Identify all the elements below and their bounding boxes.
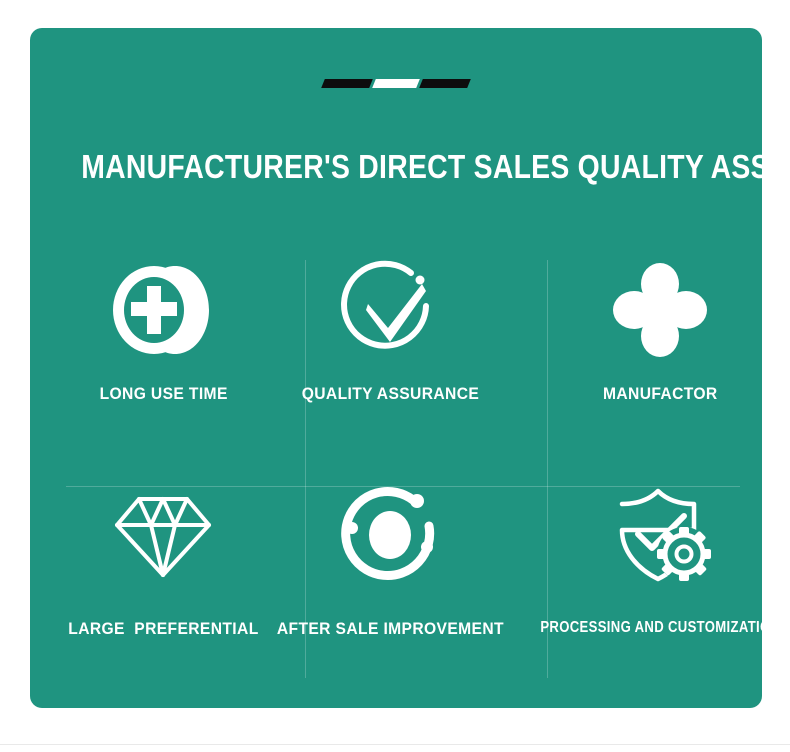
feature-label: QUALITY ASSURANCE — [302, 384, 479, 404]
feature-item-manufactor[interactable]: MANUFACTOR — [514, 228, 762, 453]
feature-label: PROCESSING AND CUSTOMIZATION — [540, 619, 762, 637]
orbit-ring-icon — [339, 475, 441, 595]
feature-label: LARGE PREFERENTIAL — [68, 619, 258, 639]
card-header: MANUFACTURER'S DIRECT SALES QUALITY ASSU… — [30, 28, 762, 203]
divider-segment-right — [419, 79, 471, 88]
page-bottom-rule — [0, 744, 790, 745]
slanted-bar-divider-icon — [323, 78, 469, 88]
quatrefoil-clover-icon — [612, 250, 708, 370]
page-title: MANUFACTURER'S DIRECT SALES QUALITY ASSU… — [81, 146, 711, 188]
diamond-icon — [113, 475, 213, 595]
feature-grid: LONG USE TIME QUALITY ASSURANCE — [60, 228, 740, 678]
feature-item-after-sale-improvement[interactable]: AFTER SALE IMPROVEMENT — [267, 453, 514, 678]
coin-stack-plus-icon — [109, 250, 217, 370]
feature-card: MANUFACTURER'S DIRECT SALES QUALITY ASSU… — [30, 28, 762, 708]
feature-label: MANUFACTOR — [603, 384, 718, 404]
shield-check-gear-icon — [608, 475, 712, 595]
page-root: MANUFACTURER'S DIRECT SALES QUALITY ASSU… — [0, 0, 790, 752]
feature-item-large-preferential[interactable]: LARGE PREFERENTIAL — [60, 453, 267, 678]
feature-label: AFTER SALE IMPROVEMENT — [277, 619, 504, 639]
feature-item-quality-assurance[interactable]: QUALITY ASSURANCE — [267, 228, 514, 453]
check-circle-icon — [338, 250, 442, 370]
feature-label: LONG USE TIME — [99, 384, 227, 404]
feature-item-processing-customization[interactable]: PROCESSING AND CUSTOMIZATION — [514, 453, 762, 678]
divider-segment-left — [321, 79, 373, 88]
divider-segment-middle — [372, 79, 420, 88]
feature-item-long-use-time[interactable]: LONG USE TIME — [60, 228, 267, 453]
